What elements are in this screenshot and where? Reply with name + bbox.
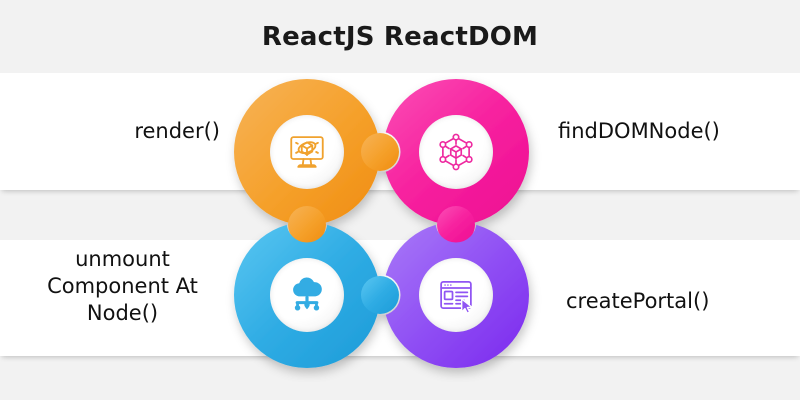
- browser-window-cursor-icon: [435, 274, 477, 316]
- monitor-cube-icon: [286, 131, 328, 173]
- node-render-icon-disc: [270, 115, 344, 189]
- node-finddomnode[interactable]: [383, 79, 529, 225]
- node-unmountcomponentatnode-icon-disc: [270, 258, 344, 332]
- node-render[interactable]: [234, 79, 380, 225]
- node-finddomnode-icon-disc: [419, 115, 493, 189]
- infographic-canvas: ReactJS ReactDOM render() findDOMNode() …: [0, 0, 800, 400]
- node-network-cube-icon: [435, 131, 477, 173]
- label-unmountcomponentatnode: unmount Component At Node(): [20, 246, 225, 327]
- page-title: ReactJS ReactDOM: [0, 0, 800, 73]
- label-render: render(): [20, 118, 220, 145]
- cloud-network-icon: [286, 274, 328, 316]
- node-createportal-icon-disc: [419, 258, 493, 332]
- label-createportal: createPortal(): [566, 288, 796, 315]
- node-unmountcomponentatnode[interactable]: [234, 222, 380, 368]
- label-finddomnode: findDOMNode(): [558, 118, 788, 145]
- node-createportal[interactable]: [383, 222, 529, 368]
